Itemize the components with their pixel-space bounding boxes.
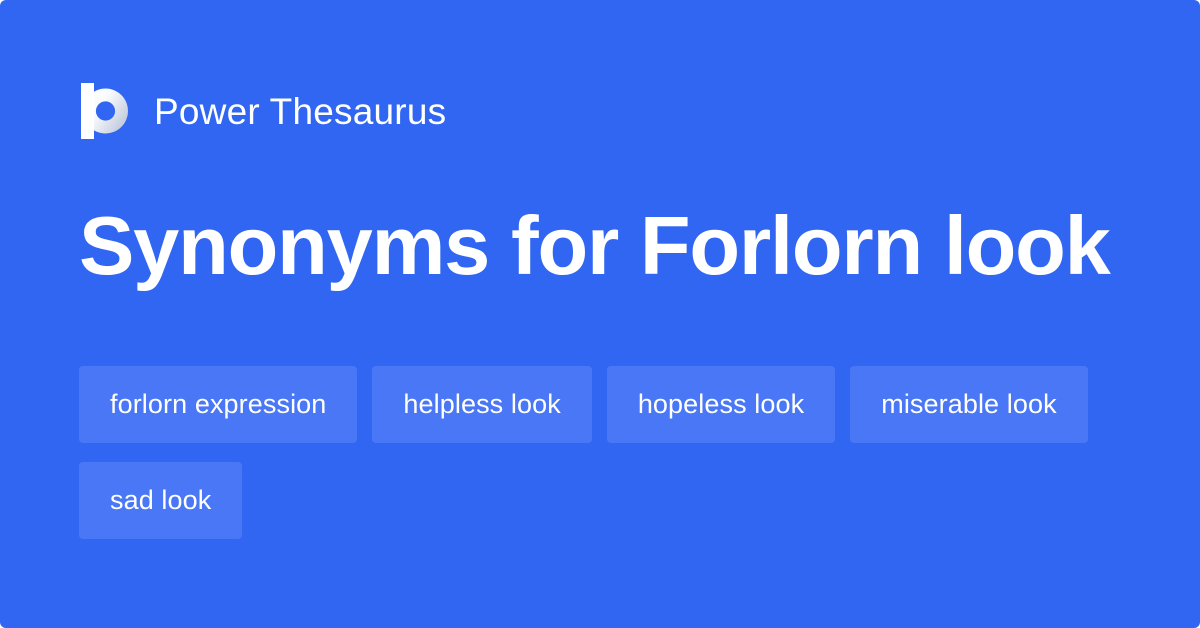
synonyms-card: Power Thesaurus Synonyms for Forlorn loo… [0,0,1200,628]
power-thesaurus-b-logo-icon [80,82,128,140]
synonym-chip[interactable]: sad look [79,462,242,539]
synonym-chip[interactable]: forlorn expression [79,366,357,443]
brand-header[interactable]: Power Thesaurus [80,80,446,142]
brand-name: Power Thesaurus [154,93,446,130]
synonym-chip[interactable]: hopeless look [607,366,835,443]
page-title: Synonyms for Forlorn look [79,198,1139,294]
synonym-chip[interactable]: miserable look [850,366,1087,443]
synonym-chip[interactable]: helpless look [372,366,591,443]
synonym-chip-list: forlorn expression helpless look hopeles… [79,366,1129,539]
